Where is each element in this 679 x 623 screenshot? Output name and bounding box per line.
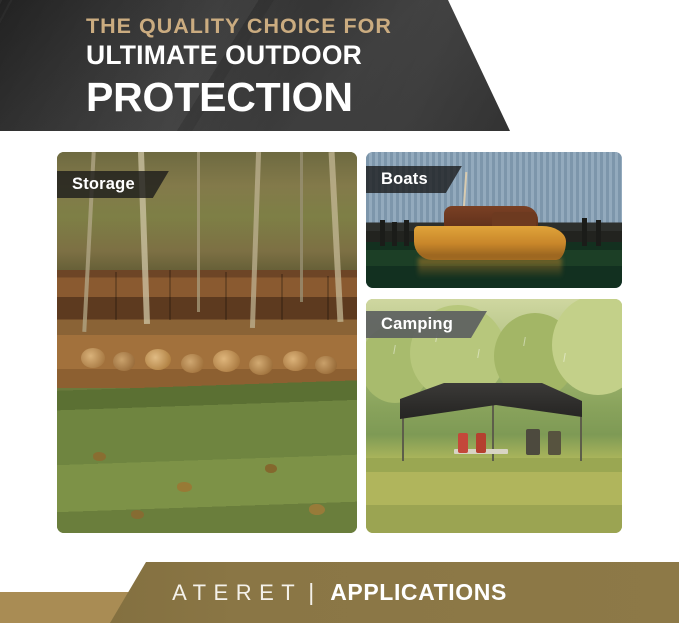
- storage-photo: [57, 152, 357, 533]
- tarp-fold: [327, 276, 329, 320]
- headline-kicker: THE QUALITY CHOICE FOR: [86, 14, 392, 39]
- log-end: [113, 352, 135, 371]
- dock-piling: [582, 218, 587, 246]
- log-end: [81, 348, 105, 368]
- camp-chair: [476, 433, 486, 453]
- headline-block: THE QUALITY CHOICE FOR ULTIMATE OUTDOOR …: [86, 14, 392, 121]
- log-end: [213, 350, 240, 372]
- camp-chair: [458, 433, 468, 453]
- headline-line-3: PROTECTION: [86, 73, 392, 121]
- brand-name: ATERET: [172, 580, 302, 606]
- camping-tarp-canopy: [400, 383, 582, 427]
- log-end: [249, 355, 273, 375]
- panel-camping: Camping: [366, 299, 622, 533]
- panel-storage: Storage: [57, 152, 357, 533]
- fallen-leaf: [93, 452, 106, 461]
- log-end: [283, 351, 308, 371]
- log-end: [145, 349, 171, 370]
- fallen-leaf: [131, 510, 144, 519]
- panel-label-storage: Storage: [57, 171, 169, 198]
- dock-piling: [392, 222, 397, 246]
- footer-brand-block: ATERET | APPLICATIONS: [0, 562, 679, 623]
- tarp-fold: [115, 272, 117, 320]
- tarp-fold: [169, 270, 171, 320]
- tree-trunk: [250, 152, 261, 328]
- tree-trunk: [329, 152, 344, 322]
- tree-trunk: [197, 152, 200, 312]
- fallen-leaf: [309, 504, 325, 515]
- panel-label-camping: Camping: [366, 311, 487, 338]
- log-end: [315, 356, 337, 374]
- headline-line-2: ULTIMATE OUTDOOR: [86, 39, 392, 72]
- footer-separator: |: [308, 579, 314, 606]
- header-banner: THE QUALITY CHOICE FOR ULTIMATE OUTDOOR …: [0, 0, 679, 131]
- fallen-leaf: [177, 482, 192, 492]
- panel-label-boats: Boats: [366, 166, 462, 193]
- boat-mast: [463, 172, 468, 210]
- fallen-leaf: [265, 464, 277, 473]
- water-reflection: [418, 258, 562, 278]
- boat-hull: [414, 226, 566, 260]
- tarp-fold: [281, 274, 283, 320]
- tarp-fold: [225, 272, 227, 320]
- dock-piling: [596, 220, 601, 246]
- panel-boats: Boats: [366, 152, 622, 288]
- camp-chair: [548, 431, 561, 455]
- dock-piling: [404, 220, 409, 246]
- footer-subtitle: APPLICATIONS: [330, 579, 507, 606]
- tree-trunk: [300, 152, 303, 302]
- camp-chair: [526, 429, 540, 455]
- dock-piling: [380, 220, 385, 246]
- log-end: [181, 354, 204, 373]
